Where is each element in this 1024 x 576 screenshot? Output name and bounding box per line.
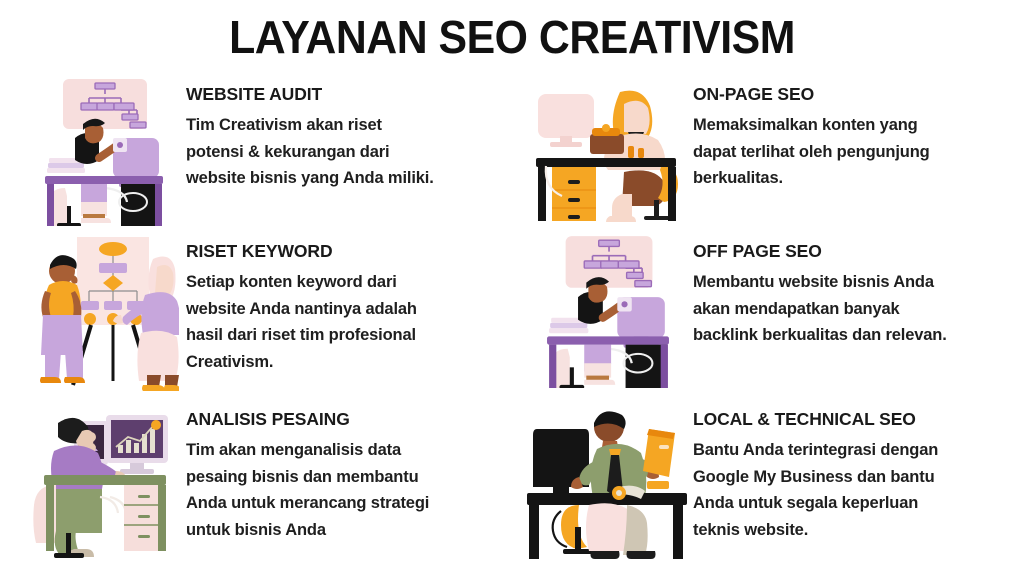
body-line: teknis website. — [693, 517, 1024, 544]
body-line: potensi & kekurangan dari — [186, 139, 505, 166]
body-line: pesaing bisnis dan membantu — [186, 464, 505, 491]
body-line: website Anda nantinya adalah — [186, 296, 505, 323]
service-text-analisis-pesaing: ANALISIS PESAING Tim akan menganalisis d… — [180, 401, 505, 544]
body-line: Anda untuk merancang strategi — [186, 490, 505, 517]
desk-charts-green-illustration — [28, 401, 180, 566]
service-card-analisis-pesaing[interactable]: ANALISIS PESAING Tim akan menganalisis d… — [0, 401, 505, 576]
service-card-local-technical-seo[interactable]: LOCAL & TECHNICAL SEO Bantu Anda terinte… — [505, 401, 1024, 576]
body-line: website bisnis yang Anda miliki. — [186, 165, 505, 192]
infographic-poster: LAYANAN SEO CREATIVISM — [0, 0, 1024, 576]
flipchart-two-people-illustration — [28, 233, 180, 393]
service-heading: ON-PAGE SEO — [693, 84, 1024, 105]
service-card-riset-keyword[interactable]: RISET KEYWORD Setiap konten keyword dari… — [0, 233, 505, 401]
service-heading: RISET KEYWORD — [186, 241, 505, 262]
body-line: Memaksimalkan konten yang — [693, 112, 1024, 139]
service-body: Membantu website bisnis Anda akan mendap… — [693, 269, 1024, 349]
body-line: Google My Business dan bantu — [693, 464, 1024, 491]
body-line: Setiap konten keyword dari — [186, 269, 505, 296]
body-line: Membantu website bisnis Anda — [693, 269, 1024, 296]
body-line: akan mendapatkan banyak — [693, 296, 1024, 323]
body-line: backlink berkualitas dan relevan. — [693, 322, 1024, 349]
service-text-on-page-seo: ON-PAGE SEO Memaksimalkan konten yang da… — [693, 76, 1024, 192]
body-line: berkualitas. — [693, 165, 1024, 192]
service-text-riset-keyword: RISET KEYWORD Setiap konten keyword dari… — [180, 233, 505, 376]
service-heading: ANALISIS PESAING — [186, 409, 505, 430]
body-line: Bantu Anda terintegrasi dengan — [693, 437, 1024, 464]
desk-sitemap-purple-illustration — [523, 233, 693, 388]
service-body: Memaksimalkan konten yang dapat terlihat… — [693, 112, 1024, 192]
body-line: Tim akan menganalisis data — [186, 437, 505, 464]
service-heading: OFF PAGE SEO — [693, 241, 1024, 262]
desk-woman-orange-illustration — [523, 76, 693, 226]
body-line: Tim Creativism akan riset — [186, 112, 505, 139]
desk-sitemap-purple-illustration — [28, 76, 180, 226]
body-line: untuk bisnis Anda — [186, 517, 505, 544]
service-text-local-technical-seo: LOCAL & TECHNICAL SEO Bantu Anda terinte… — [693, 401, 1024, 544]
service-text-website-audit: WEBSITE AUDIT Tim Creativism akan riset … — [180, 76, 505, 192]
body-line: Creativism. — [186, 349, 505, 376]
body-line: Anda untuk segala keperluan — [693, 490, 1024, 517]
service-card-off-page-seo[interactable]: OFF PAGE SEO Membantu website bisnis And… — [505, 233, 1024, 401]
service-card-on-page-seo[interactable]: ON-PAGE SEO Memaksimalkan konten yang da… — [505, 76, 1024, 233]
desk-man-book-black-illustration — [523, 401, 693, 566]
service-heading: WEBSITE AUDIT — [186, 84, 505, 105]
service-card-website-audit[interactable]: WEBSITE AUDIT Tim Creativism akan riset … — [0, 76, 505, 233]
service-body: Setiap konten keyword dari website Anda … — [186, 269, 505, 376]
body-line: hasil dari riset tim profesional — [186, 322, 505, 349]
page-title: LAYANAN SEO CREATIVISM — [36, 0, 988, 60]
service-body: Tim Creativism akan riset potensi & keku… — [186, 112, 505, 192]
service-text-off-page-seo: OFF PAGE SEO Membantu website bisnis And… — [693, 233, 1024, 349]
service-body: Bantu Anda terintegrasi dengan Google My… — [693, 437, 1024, 544]
service-body: Tim akan menganalisis data pesaing bisni… — [186, 437, 505, 544]
services-grid: WEBSITE AUDIT Tim Creativism akan riset … — [0, 76, 1024, 576]
service-heading: LOCAL & TECHNICAL SEO — [693, 409, 1024, 430]
body-line: dapat terlihat oleh pengunjung — [693, 139, 1024, 166]
